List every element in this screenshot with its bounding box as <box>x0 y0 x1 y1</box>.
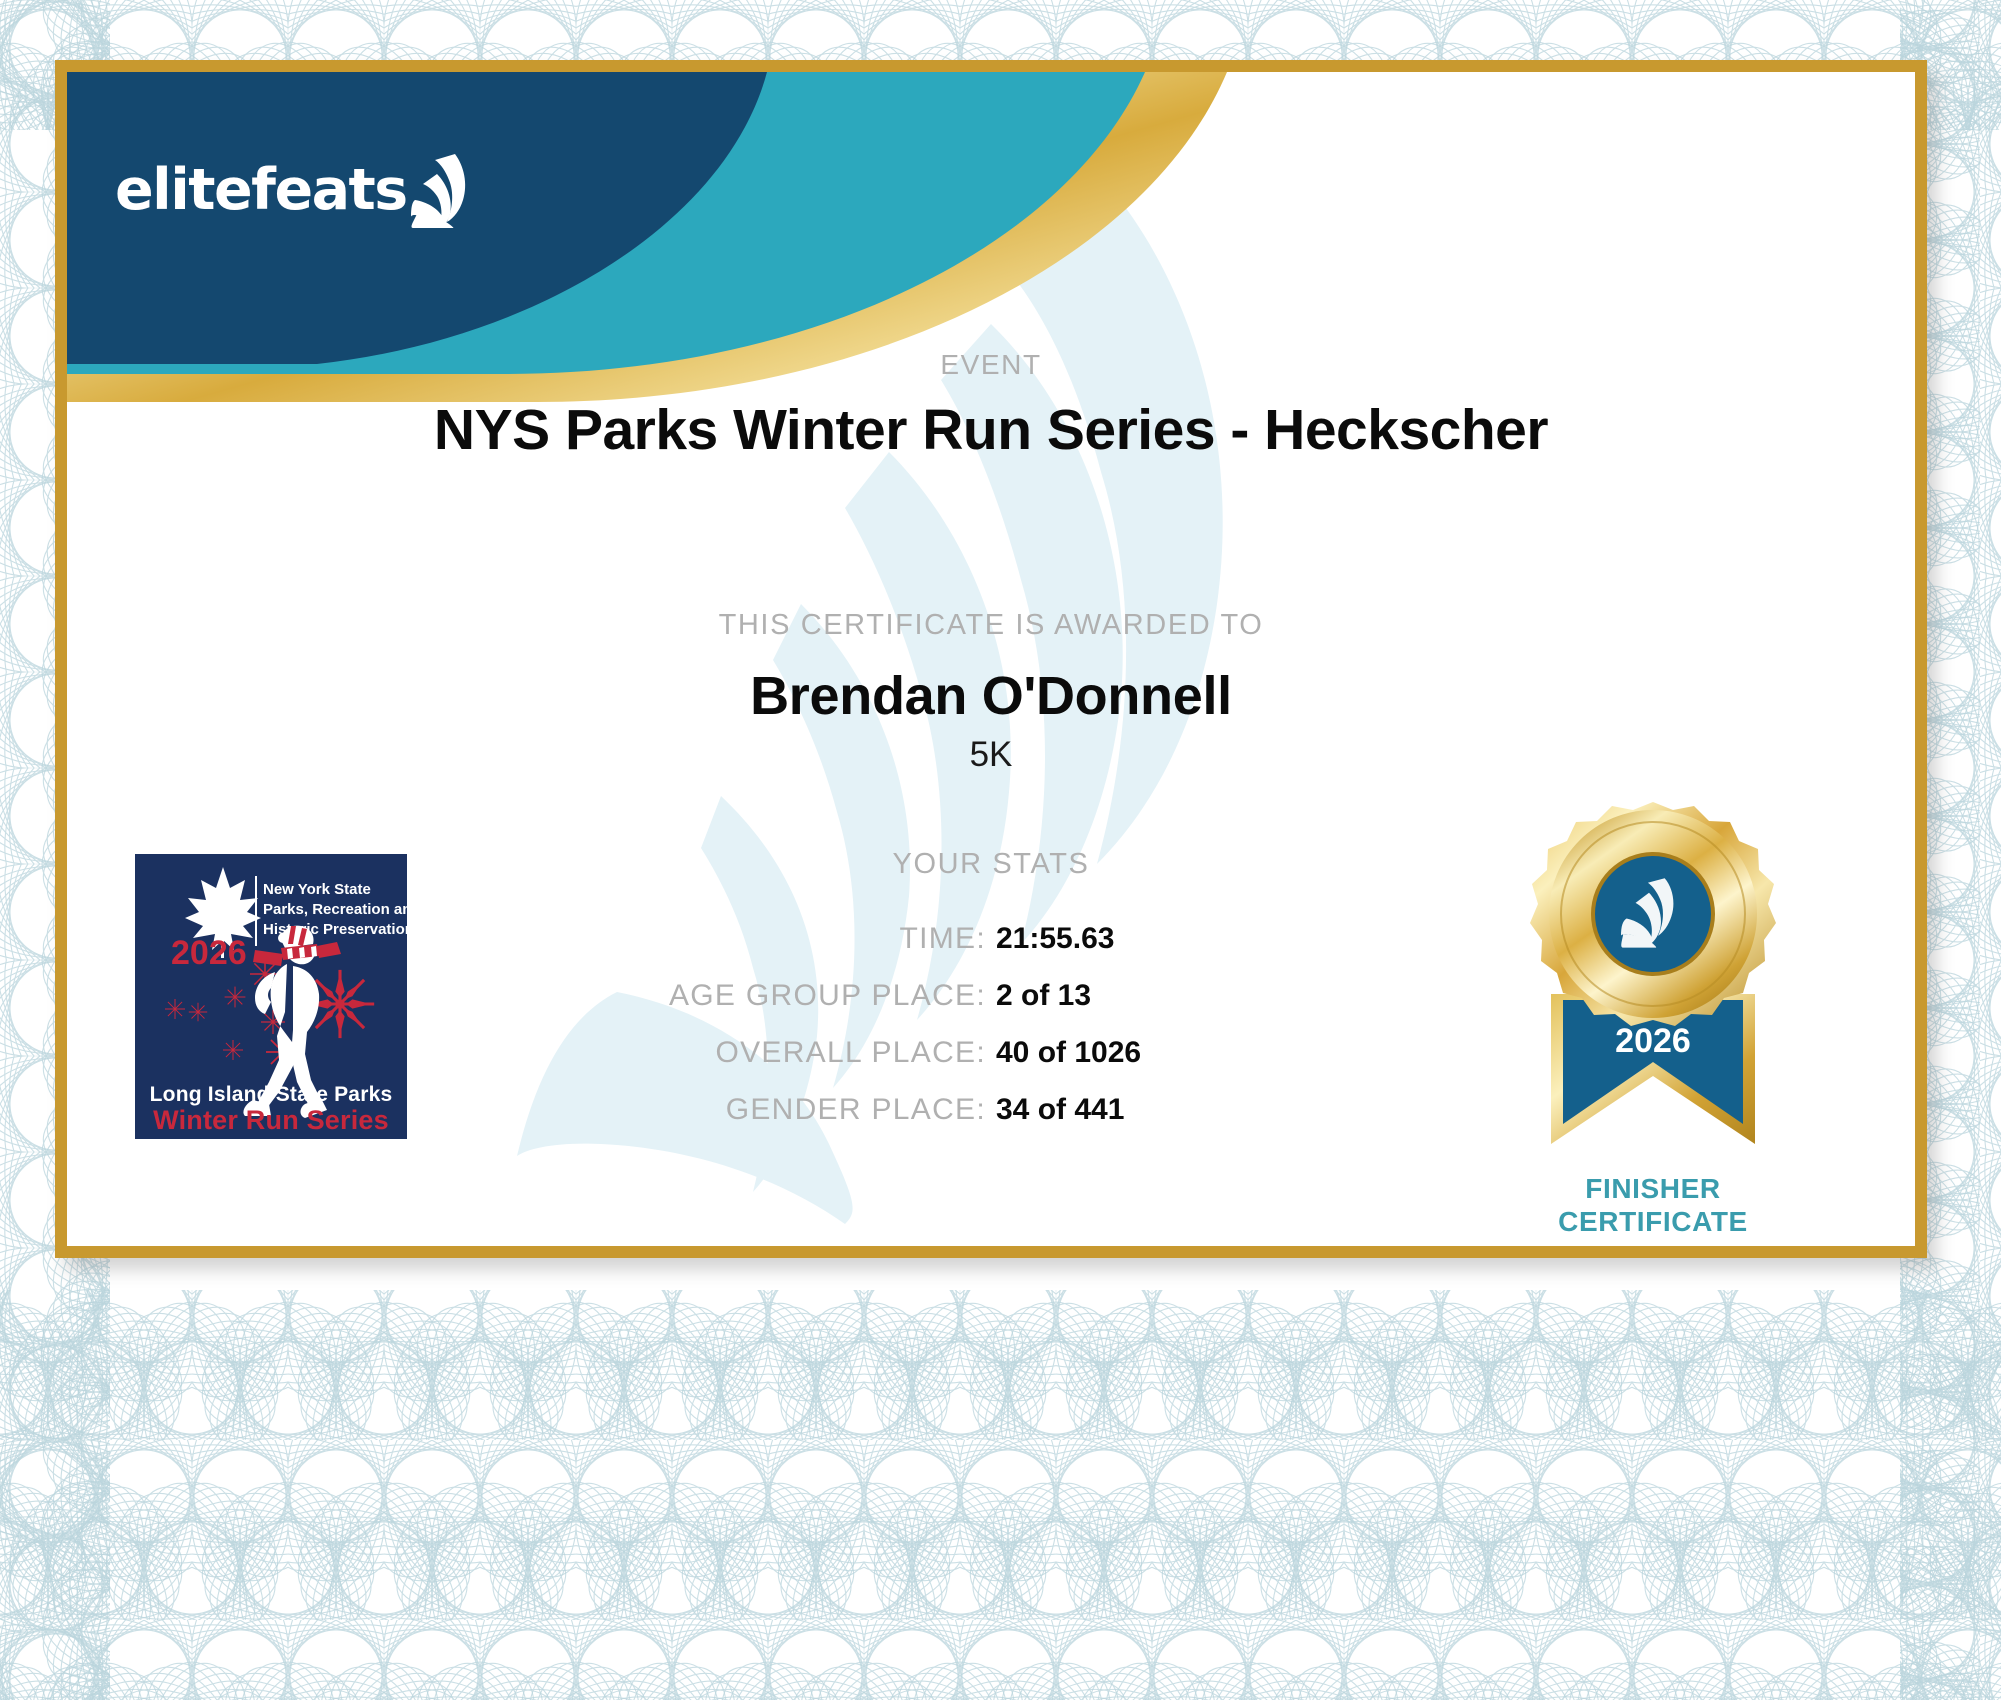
agency-line2: Parks, Recreation and <box>263 901 407 918</box>
finisher-caption-line2: CERTIFICATE <box>1493 1205 1813 1238</box>
finisher-caption: FINISHER CERTIFICATE <box>1493 1172 1813 1238</box>
certificate-page: elitefeats EVENT NYS Parks Winter Run Se… <box>0 0 2001 1700</box>
certificate-content: EVENT NYS Parks Winter Run Series - Heck… <box>67 72 1915 1246</box>
stat-value: 40 of 1026 <box>996 1036 1516 1070</box>
finisher-medal: 2026 <box>1493 794 1833 1246</box>
awarded-to-label: THIS CERTIFICATE IS AWARDED TO <box>67 609 1915 642</box>
agency-line1: New York State <box>263 881 371 898</box>
stat-key: GENDER PLACE: <box>466 1093 996 1127</box>
finisher-caption-line1: FINISHER <box>1493 1172 1813 1205</box>
stat-key: OVERALL PLACE: <box>466 1036 996 1070</box>
medal-graphic: 2026 <box>1493 794 1813 1194</box>
rosette-starburst <box>1530 802 1776 1026</box>
event-series-logo: New York State Parks, Recreation and His… <box>135 854 407 1139</box>
series-line2: Winter Run Series <box>153 1105 389 1135</box>
logo-year: 2026 <box>171 934 247 972</box>
recipient-name: Brendan O'Donnell <box>67 665 1915 727</box>
event-label: EVENT <box>67 349 1915 381</box>
certificate-gold-frame: elitefeats EVENT NYS Parks Winter Run Se… <box>55 60 1927 1258</box>
stat-key: AGE GROUP PLACE: <box>466 979 996 1013</box>
stat-value: 2 of 13 <box>996 979 1516 1013</box>
series-line1: Long Island State Parks <box>150 1083 393 1106</box>
certificate-inner-card: elitefeats EVENT NYS Parks Winter Run Se… <box>67 72 1915 1246</box>
event-title: NYS Parks Winter Run Series - Heckscher <box>67 397 1915 463</box>
stat-value: 34 of 441 <box>996 1093 1516 1127</box>
stat-key: TIME: <box>466 922 996 956</box>
race-distance: 5K <box>67 735 1915 775</box>
stat-value: 21:55.63 <box>996 922 1516 956</box>
ribbon-year: 2026 <box>1615 1022 1691 1060</box>
